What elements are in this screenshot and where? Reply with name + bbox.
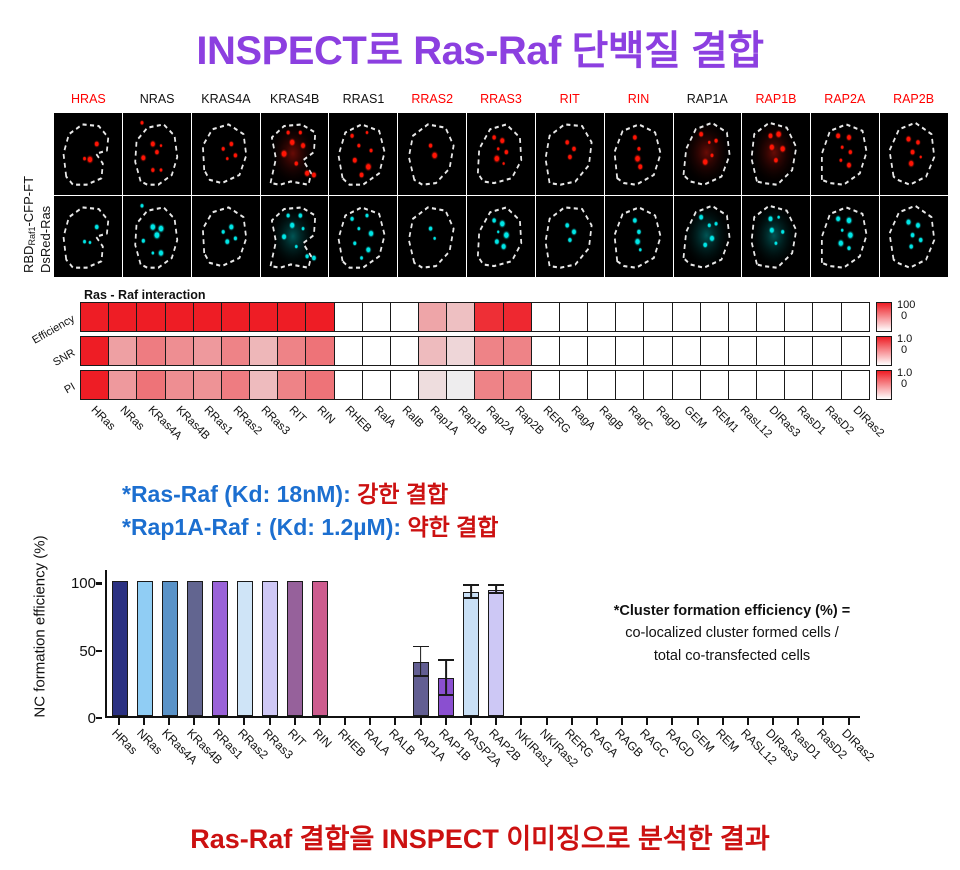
- heatmap-x-label-ralb: RalB: [399, 404, 425, 430]
- microscopy-cfp-cell-rap2a: [811, 196, 879, 278]
- heatmap-row-label-pi: PI: [62, 381, 77, 397]
- bar-hras: [112, 581, 128, 716]
- page-title: INSPECT로 Ras-Raf 단백질 결합: [0, 18, 960, 76]
- microscopy-column-rras3: [467, 113, 536, 277]
- bar-x-label-rala: RALA: [361, 726, 393, 758]
- microscopy-dsred-cell-rap2b: [880, 113, 948, 196]
- heatmap-x-label-rin: RIN: [315, 404, 337, 426]
- heatmap-x-label-ragb: RagB: [597, 404, 626, 433]
- heatmap-block: Ras - Raf interaction EfficiencySNRPI 10…: [0, 288, 960, 473]
- bar-slot-kras4a: [157, 570, 182, 716]
- barchart-x-ticks: [105, 718, 860, 725]
- heatmap-cell-snr-rem1: [701, 337, 729, 365]
- bar-xtick-rem: [709, 718, 734, 725]
- heatmap-cell-pi-rap1b: [447, 371, 475, 399]
- microscopy-column-header-rin: RIN: [604, 92, 673, 112]
- bar-xtick-nras: [130, 718, 155, 725]
- microscopy-column-header-rap2b: RAP2B: [879, 92, 948, 112]
- colorbar-gradient-0: [876, 302, 892, 332]
- heatmap-cell-pi-rras2: [222, 371, 250, 399]
- bar-xtick-diras2: [835, 718, 860, 725]
- microscopy-cfp-cell-rap1a: [674, 196, 742, 278]
- heatmap-cell-pi-rem1: [701, 371, 729, 399]
- heatmap-cell-snr-raga: [560, 337, 588, 365]
- heatmap-row-labels: EfficiencySNRPI: [0, 302, 80, 400]
- heatmap-cell-snr-rasd1: [785, 337, 813, 365]
- heatmap-cell-efficiency-gem: [673, 303, 701, 331]
- heatmap-cell-snr-ragd: [644, 337, 672, 365]
- heatmap-cell-pi-rit: [278, 371, 306, 399]
- bar-xtick-rras1: [206, 718, 231, 725]
- error-cap-top-rasp2a: [463, 584, 479, 586]
- kd-note-2: *Rap1A-Raf : (Kd: 1.2µM): 약한 결합: [0, 511, 960, 544]
- heatmap-cell-efficiency-hras: [81, 303, 109, 331]
- annotation-line-2: co-localized cluster formed cells /: [522, 622, 942, 644]
- bar-slot-nras: [132, 570, 157, 716]
- bar-x-label-rem: REM: [713, 726, 742, 755]
- microscopy-column-rin: [605, 113, 674, 277]
- bar-xtick-nkiras2: [533, 718, 558, 725]
- heatmap-colorbar-0: 1000: [876, 302, 960, 332]
- bar-slot-rap1b: [433, 570, 458, 716]
- microscopy-column-rap2a: [811, 113, 880, 277]
- microscopy-column-header-rras2: RRAS2: [398, 92, 467, 112]
- microscopy-row-label-dsred: DsRed-Ras: [38, 206, 53, 273]
- microscopy-dsred-cell-rras2: [398, 113, 466, 196]
- bar-rras2: [237, 581, 253, 716]
- bar-xtick-rasd1: [785, 718, 810, 725]
- heatmap-cell-snr-ralb: [391, 337, 419, 365]
- bar-kras4b: [187, 581, 203, 716]
- error-cap-top-rap1b: [438, 659, 454, 661]
- heatmap-cell-pi-ragd: [644, 371, 672, 399]
- heatmap-x-label-raga: RagA: [569, 404, 598, 433]
- microscopy-column-headers: HRASNRASKRAS4AKRAS4BRRAS1RRAS2RRAS3RITRI…: [54, 92, 948, 112]
- colorbar-low-1: 0: [901, 344, 907, 356]
- heatmap-cell-efficiency-rap1a: [419, 303, 447, 331]
- microscopy-panel: DsRed-Ras RBDRaf1-CFP-FT HRASNRASKRAS4AK…: [18, 92, 948, 282]
- barchart-y-ticks: 050100: [60, 562, 102, 722]
- kd-note-korean-2: 약한 결합: [407, 514, 498, 540]
- heatmap-cell-pi-gem: [673, 371, 701, 399]
- heatmap-cell-pi-ragb: [588, 371, 616, 399]
- heatmap-cell-snr-rasd2: [813, 337, 841, 365]
- heatmap-cell-pi-rras1: [194, 371, 222, 399]
- microscopy-column-rit: [536, 113, 605, 277]
- bar-slot-rap2b: [483, 570, 508, 716]
- bar-xtick-rap1b: [432, 718, 457, 725]
- heatmap-cell-snr-gem: [673, 337, 701, 365]
- kd-note-prefix-2: *Rap1A-Raf : (Kd: 1.2µM):: [122, 514, 407, 540]
- microscopy-column-kras4b: [261, 113, 330, 277]
- bar-xtick-nkiras1: [508, 718, 533, 725]
- microscopy-dsred-cell-rit: [536, 113, 604, 196]
- microscopy-column-rap1a: [674, 113, 743, 277]
- heatmap-cell-efficiency-ralb: [391, 303, 419, 331]
- bar-ytick-mark-100: [96, 582, 102, 584]
- microscopy-row-label-rbd: RBDRaf1-CFP-FT: [21, 176, 37, 273]
- heatmap-cell-efficiency-rap2b: [504, 303, 532, 331]
- bar-xtick-rap2b: [483, 718, 508, 725]
- heatmap-cell-snr-kras4b: [166, 337, 194, 365]
- microscopy-column-kras4a: [192, 113, 261, 277]
- annotation-line-1: *Cluster formation efficiency (%) =: [522, 600, 942, 622]
- microscopy-dsred-cell-kras4a: [192, 113, 260, 196]
- microscopy-cfp-cell-rras2: [398, 196, 466, 278]
- heatmap-cell-efficiency-rala: [363, 303, 391, 331]
- bar-rin: [312, 581, 328, 716]
- cfp-ft-text: -CFP-FT: [21, 176, 36, 227]
- microscopy-column-rras1: [329, 113, 398, 277]
- bar-xtick-diras3: [759, 718, 784, 725]
- microscopy-dsred-cell-rap1b: [742, 113, 810, 196]
- bar-xtick-rerg: [558, 718, 583, 725]
- colorbar-gradient-1: [876, 336, 892, 366]
- microscopy-column-header-rap2a: RAP2A: [810, 92, 879, 112]
- barchart-block: NC formation efficiency (%) 050100 HRasN…: [0, 548, 960, 808]
- bar-xtick-rasp2a: [457, 718, 482, 725]
- bar-x-label-ralb: RALB: [386, 726, 418, 758]
- heatmap-cell-efficiency-rras2: [222, 303, 250, 331]
- microscopy-dsred-cell-hras: [54, 113, 122, 196]
- bar-ytick-label-100: 100: [71, 575, 96, 592]
- bar-ytick-mark-0: [96, 717, 102, 719]
- colorbar-low-0: 0: [901, 310, 907, 322]
- bar-rap2b: [488, 590, 504, 716]
- heatmap-row-snr: [80, 336, 870, 366]
- bar-slot-rras3: [258, 570, 283, 716]
- bar-xtick-rap1a: [407, 718, 432, 725]
- bar-rit: [287, 581, 303, 716]
- error-cap-bottom-rap1b: [438, 694, 454, 696]
- heatmap-title: Ras - Raf interaction: [84, 288, 206, 302]
- microscopy-dsred-cell-rras3: [467, 113, 535, 196]
- heatmap-cell-efficiency-rasd2: [813, 303, 841, 331]
- error-bar-rap1b: [445, 661, 447, 696]
- microscopy-column-rras2: [398, 113, 467, 277]
- heatmap-cell-efficiency-rerg: [532, 303, 560, 331]
- microscopy-column-header-kras4a: KRAS4A: [192, 92, 261, 112]
- bar-xtick-raga: [583, 718, 608, 725]
- heatmap-cell-efficiency-diras2: [842, 303, 869, 331]
- barchart-x-axis-labels: HRasNRasKRas4AKRas4BRRas1RRas2RRas3RITRI…: [105, 726, 860, 806]
- heatmap-x-label-ragd: RagD: [653, 404, 682, 433]
- heatmap-x-label-gem: GEM: [681, 404, 708, 431]
- heatmap-cell-snr-rap1b: [447, 337, 475, 365]
- bar-rras3: [262, 581, 278, 716]
- microscopy-cfp-cell-rras3: [467, 196, 535, 278]
- heatmap-cell-snr-rras3: [250, 337, 278, 365]
- bar-xtick-rras3: [256, 718, 281, 725]
- microscopy-cfp-cell-nras: [123, 196, 191, 278]
- bar-xtick-rin: [306, 718, 331, 725]
- bar-slot-rasp2a: [458, 570, 483, 716]
- heatmap-cell-snr-rin: [306, 337, 334, 365]
- microscopy-column-header-hras: HRAS: [54, 92, 123, 112]
- heatmap-x-label-hras: HRas: [89, 404, 118, 433]
- bar-slot-rala: [358, 570, 383, 716]
- barchart-y-axis-label: NC formation efficiency (%): [32, 527, 49, 727]
- bar-slot-rap1a: [408, 570, 433, 716]
- error-cap-top-rap1a: [413, 646, 429, 648]
- heatmap-x-label-rras2: RRas2: [230, 404, 263, 437]
- bar-ytick-label-50: 50: [79, 643, 96, 660]
- heatmap-row-label-efficiency: Efficiency: [30, 313, 77, 347]
- bar-slot-rit: [283, 570, 308, 716]
- heatmap-cell-pi-rras3: [250, 371, 278, 399]
- heatmap-cell-efficiency-rin: [306, 303, 334, 331]
- heatmap-row-efficiency: [80, 302, 870, 332]
- microscopy-column-nras: [123, 113, 192, 277]
- heatmap-cell-pi-rap1a: [419, 371, 447, 399]
- microscopy-dsred-cell-rap1a: [674, 113, 742, 196]
- heatmap-cell-snr-rras1: [194, 337, 222, 365]
- heatmap-cell-snr-rasl12: [729, 337, 757, 365]
- heatmap-cell-pi-kras4b: [166, 371, 194, 399]
- colorbar-low-2: 0: [901, 378, 907, 390]
- heatmap-cell-efficiency-kras4a: [137, 303, 165, 331]
- bar-x-label-nras: NRas: [134, 726, 165, 757]
- bar-xtick-ragd: [659, 718, 684, 725]
- microscopy-cfp-cell-rap2b: [880, 196, 948, 278]
- microscopy-cfp-cell-rras1: [329, 196, 397, 278]
- microscopy-column-header-kras4b: KRAS4B: [260, 92, 329, 112]
- microscopy-dsred-cell-rap2a: [811, 113, 879, 196]
- error-cap-top-rap2b: [488, 584, 504, 586]
- rbd-subscript: Raf1: [27, 227, 37, 246]
- heatmap-x-label-nras: NRas: [117, 404, 146, 433]
- heatmap-cell-efficiency-rras1: [194, 303, 222, 331]
- heatmap-cell-efficiency-ragc: [616, 303, 644, 331]
- heatmap-cell-efficiency-nras: [109, 303, 137, 331]
- microscopy-cfp-cell-hras: [54, 196, 122, 278]
- heatmap-cell-snr-ragb: [588, 337, 616, 365]
- heatmap-cell-pi-rasd1: [785, 371, 813, 399]
- annotation-line-3: total co-transfected cells: [522, 645, 942, 667]
- bar-slot-rheb: [333, 570, 358, 716]
- microscopy-row-labels: DsRed-Ras RBDRaf1-CFP-FT: [18, 110, 52, 278]
- heatmap-cell-pi-diras3: [757, 371, 785, 399]
- heatmap-cell-snr-nras: [109, 337, 137, 365]
- kd-annotation-notes: *Ras-Raf (Kd: 18nM): 강한 결합*Rap1A-Raf : (…: [0, 478, 960, 545]
- heatmap-cell-efficiency-rheb: [335, 303, 363, 331]
- bar-kras4a: [162, 581, 178, 716]
- bottom-caption: Ras-Raf 결합을 INSPECT 이미징으로 분석한 결과: [0, 817, 960, 856]
- bar-xtick-gem: [684, 718, 709, 725]
- heatmap-cell-efficiency-ragd: [644, 303, 672, 331]
- heatmap-cell-snr-kras4a: [137, 337, 165, 365]
- bar-xtick-ragc: [634, 718, 659, 725]
- heatmap-cell-snr-ragc: [616, 337, 644, 365]
- bar-rras1: [212, 581, 228, 716]
- heatmap-cell-pi-ragc: [616, 371, 644, 399]
- heatmap-cell-efficiency-diras3: [757, 303, 785, 331]
- heatmap-x-label-rem1: REM1: [710, 404, 741, 435]
- microscopy-cfp-cell-rap1b: [742, 196, 810, 278]
- heatmap-colorbar-2: 1.00: [876, 370, 960, 400]
- heatmap-cell-snr-rap2a: [475, 337, 503, 365]
- microscopy-cfp-cell-kras4a: [192, 196, 260, 278]
- kd-note-1: *Ras-Raf (Kd: 18nM): 강한 결합: [0, 478, 960, 511]
- bar-rasp2a: [463, 592, 479, 716]
- bar-slot-rin: [308, 570, 333, 716]
- heatmap-cell-efficiency-rasl12: [729, 303, 757, 331]
- heatmap-colorbar-1: 1.00: [876, 336, 960, 366]
- heatmap-cell-snr-rerg: [532, 337, 560, 365]
- heatmap-cell-snr-rit: [278, 337, 306, 365]
- bar-slot-hras: [107, 570, 132, 716]
- heatmap-x-label-rap2a: Rap2A: [484, 404, 517, 437]
- heatmap-cell-pi-ralb: [391, 371, 419, 399]
- heatmap-cell-efficiency-rras3: [250, 303, 278, 331]
- bar-slot-rras1: [207, 570, 232, 716]
- bar-xtick-kras4a: [155, 718, 180, 725]
- heatmap-cell-pi-nras: [109, 371, 137, 399]
- bar-x-label-hras: HRas: [109, 726, 140, 757]
- heatmap-x-label-rit: RIT: [286, 404, 308, 426]
- microscopy-dsred-cell-kras4b: [261, 113, 329, 196]
- microscopy-dsred-cell-nras: [123, 113, 191, 196]
- bar-x-label-rheb: RHEB: [335, 726, 368, 759]
- bar-nras: [137, 581, 153, 716]
- microscopy-column-rap1b: [742, 113, 811, 277]
- error-cap-bottom-rap1a: [413, 675, 429, 677]
- bar-x-label-rin: RIN: [310, 726, 335, 751]
- bar-xtick-rheb: [332, 718, 357, 725]
- heatmap-cell-snr-rras2: [222, 337, 250, 365]
- bar-ytick-mark-50: [96, 650, 102, 652]
- error-cap-bottom-rap2b: [488, 592, 504, 594]
- heatmap-cell-pi-rerg: [532, 371, 560, 399]
- heatmap-cell-efficiency-rap1b: [447, 303, 475, 331]
- heatmap-x-axis-labels: HRasNRasKRas4AKRas4BRRas1RRas2RRas3RITRI…: [80, 404, 870, 472]
- bar-xtick-rasl12: [734, 718, 759, 725]
- bar-ytick-label-0: 0: [88, 710, 96, 727]
- heatmap-x-label-rras3: RRas3: [258, 404, 291, 437]
- error-bar-rap1a: [420, 647, 422, 677]
- heatmap-cell-pi-rin: [306, 371, 334, 399]
- bar-slot-rras2: [232, 570, 257, 716]
- bar-slot-kras4b: [182, 570, 207, 716]
- heatmap-cell-efficiency-rap2a: [475, 303, 503, 331]
- microscopy-cfp-cell-rin: [605, 196, 673, 278]
- microscopy-cfp-cell-rit: [536, 196, 604, 278]
- heatmap-colorbars: 10001.001.00: [876, 302, 960, 402]
- microscopy-column-rap2b: [880, 113, 948, 277]
- microscopy-column-header-rap1a: RAP1A: [673, 92, 742, 112]
- heatmap-row-pi: [80, 370, 870, 400]
- heatmap-grid: [80, 302, 870, 400]
- heatmap-cell-efficiency-ragb: [588, 303, 616, 331]
- microscopy-cfp-cell-kras4b: [261, 196, 329, 278]
- microscopy-column-header-rras1: RRAS1: [329, 92, 398, 112]
- heatmap-cell-efficiency-kras4b: [166, 303, 194, 331]
- heatmap-cell-efficiency-rit: [278, 303, 306, 331]
- heatmap-cell-efficiency-rem1: [701, 303, 729, 331]
- bar-xtick-rala: [357, 718, 382, 725]
- bar-x-label-diras2: DIRas2: [839, 726, 877, 764]
- heatmap-cell-snr-rala: [363, 337, 391, 365]
- microscopy-dsred-cell-rin: [605, 113, 673, 196]
- kd-note-prefix-1: *Ras-Raf (Kd: 18nM):: [122, 481, 357, 507]
- microscopy-image-grid: [54, 113, 948, 277]
- heatmap-cell-pi-rheb: [335, 371, 363, 399]
- heatmap-cell-pi-raga: [560, 371, 588, 399]
- heatmap-x-label-diras2: DIRas2: [851, 404, 887, 440]
- bar-xtick-ralb: [382, 718, 407, 725]
- heatmap-cell-pi-kras4a: [137, 371, 165, 399]
- error-cap-bottom-rasp2a: [463, 597, 479, 599]
- heatmap-cell-snr-rheb: [335, 337, 363, 365]
- bar-xtick-kras4b: [181, 718, 206, 725]
- bar-xtick-rasd2: [810, 718, 835, 725]
- heatmap-cell-efficiency-raga: [560, 303, 588, 331]
- colorbar-gradient-2: [876, 370, 892, 400]
- bar-xtick-hras: [105, 718, 130, 725]
- microscopy-column-hras: [54, 113, 123, 277]
- bar-xtick-ragb: [608, 718, 633, 725]
- heatmap-x-label-rerg: RERG: [540, 404, 572, 436]
- heatmap-cell-snr-rap1a: [419, 337, 447, 365]
- heatmap-cell-pi-rap2b: [504, 371, 532, 399]
- heatmap-cell-efficiency-rasd1: [785, 303, 813, 331]
- microscopy-column-header-nras: NRAS: [123, 92, 192, 112]
- heatmap-x-label-rasd2: RasD2: [823, 404, 856, 437]
- heatmap-cell-snr-diras2: [842, 337, 869, 365]
- heatmap-row-label-snr: SNR: [51, 347, 77, 369]
- rbd-text: RBD: [21, 246, 36, 273]
- bar-xtick-rras2: [231, 718, 256, 725]
- bar-xtick-rit: [281, 718, 306, 725]
- heatmap-x-label-ragc: RagC: [625, 404, 654, 433]
- heatmap-cell-snr-rap2b: [504, 337, 532, 365]
- heatmap-cell-snr-diras3: [757, 337, 785, 365]
- heatmap-x-label-rheb: RHEB: [343, 404, 374, 435]
- microscopy-column-header-rras3: RRAS3: [467, 92, 536, 112]
- heatmap-cell-pi-rala: [363, 371, 391, 399]
- microscopy-dsred-cell-rras1: [329, 113, 397, 196]
- heatmap-x-label-rap1b: Rap1B: [456, 404, 489, 437]
- microscopy-column-header-rap1b: RAP1B: [742, 92, 811, 112]
- microscopy-column-header-rit: RIT: [535, 92, 604, 112]
- heatmap-cell-pi-rasl12: [729, 371, 757, 399]
- bar-slot-ralb: [383, 570, 408, 716]
- heatmap-cell-pi-rap2a: [475, 371, 503, 399]
- heatmap-x-label-rala: RalA: [371, 404, 397, 430]
- heatmap-x-label-rap1a: Rap1A: [428, 404, 461, 437]
- kd-note-korean-1: 강한 결합: [357, 481, 448, 507]
- heatmap-cell-pi-diras2: [842, 371, 869, 399]
- heatmap-x-label-rap2b: Rap2B: [512, 404, 545, 437]
- heatmap-cell-pi-rasd2: [813, 371, 841, 399]
- heatmap-cell-snr-hras: [81, 337, 109, 365]
- heatmap-cell-pi-hras: [81, 371, 109, 399]
- barchart-annotation: *Cluster formation efficiency (%) = co-l…: [522, 600, 942, 667]
